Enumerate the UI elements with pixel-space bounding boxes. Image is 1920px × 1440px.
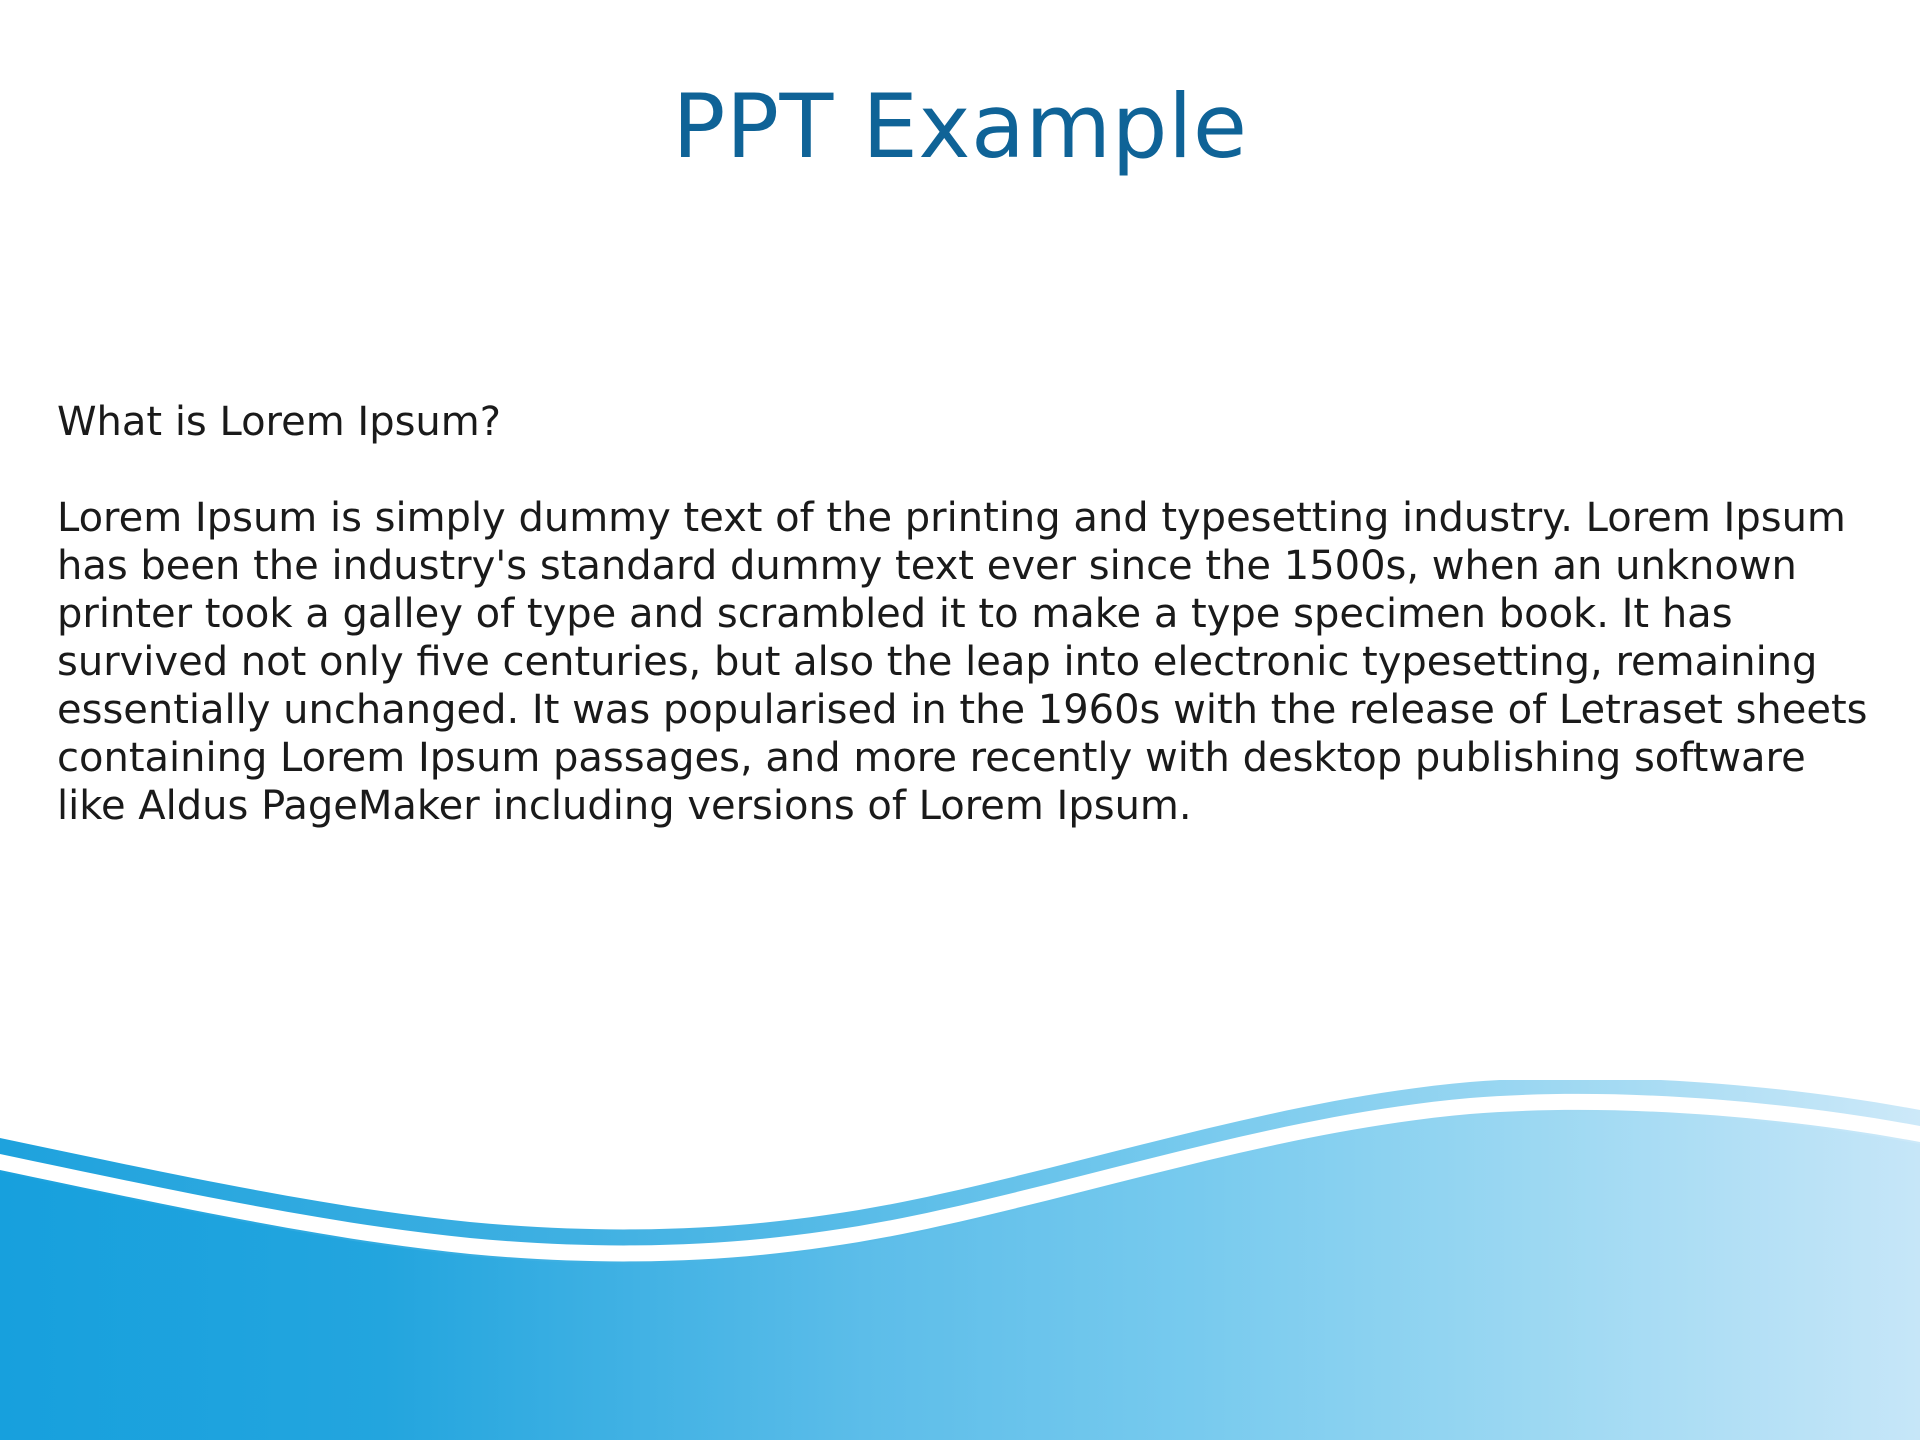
wave-graphic (0, 1080, 1920, 1440)
body-heading: What is Lorem Ipsum? (57, 398, 1872, 446)
wave-main-body (0, 1112, 1920, 1440)
wave-highlight-line (0, 1094, 1920, 1262)
wave-upper-band (0, 1080, 1920, 1440)
slide-body-content: What is Lorem Ipsum? Lorem Ipsum is simp… (57, 398, 1872, 830)
page-title: PPT Example (0, 78, 1920, 177)
body-paragraph: Lorem Ipsum is simply dummy text of the … (57, 494, 1872, 830)
body-spacer (57, 446, 1872, 494)
bottom-wave-decoration (0, 1080, 1920, 1440)
presentation-slide: PPT Example What is Lorem Ipsum? Lorem I… (0, 0, 1920, 1440)
